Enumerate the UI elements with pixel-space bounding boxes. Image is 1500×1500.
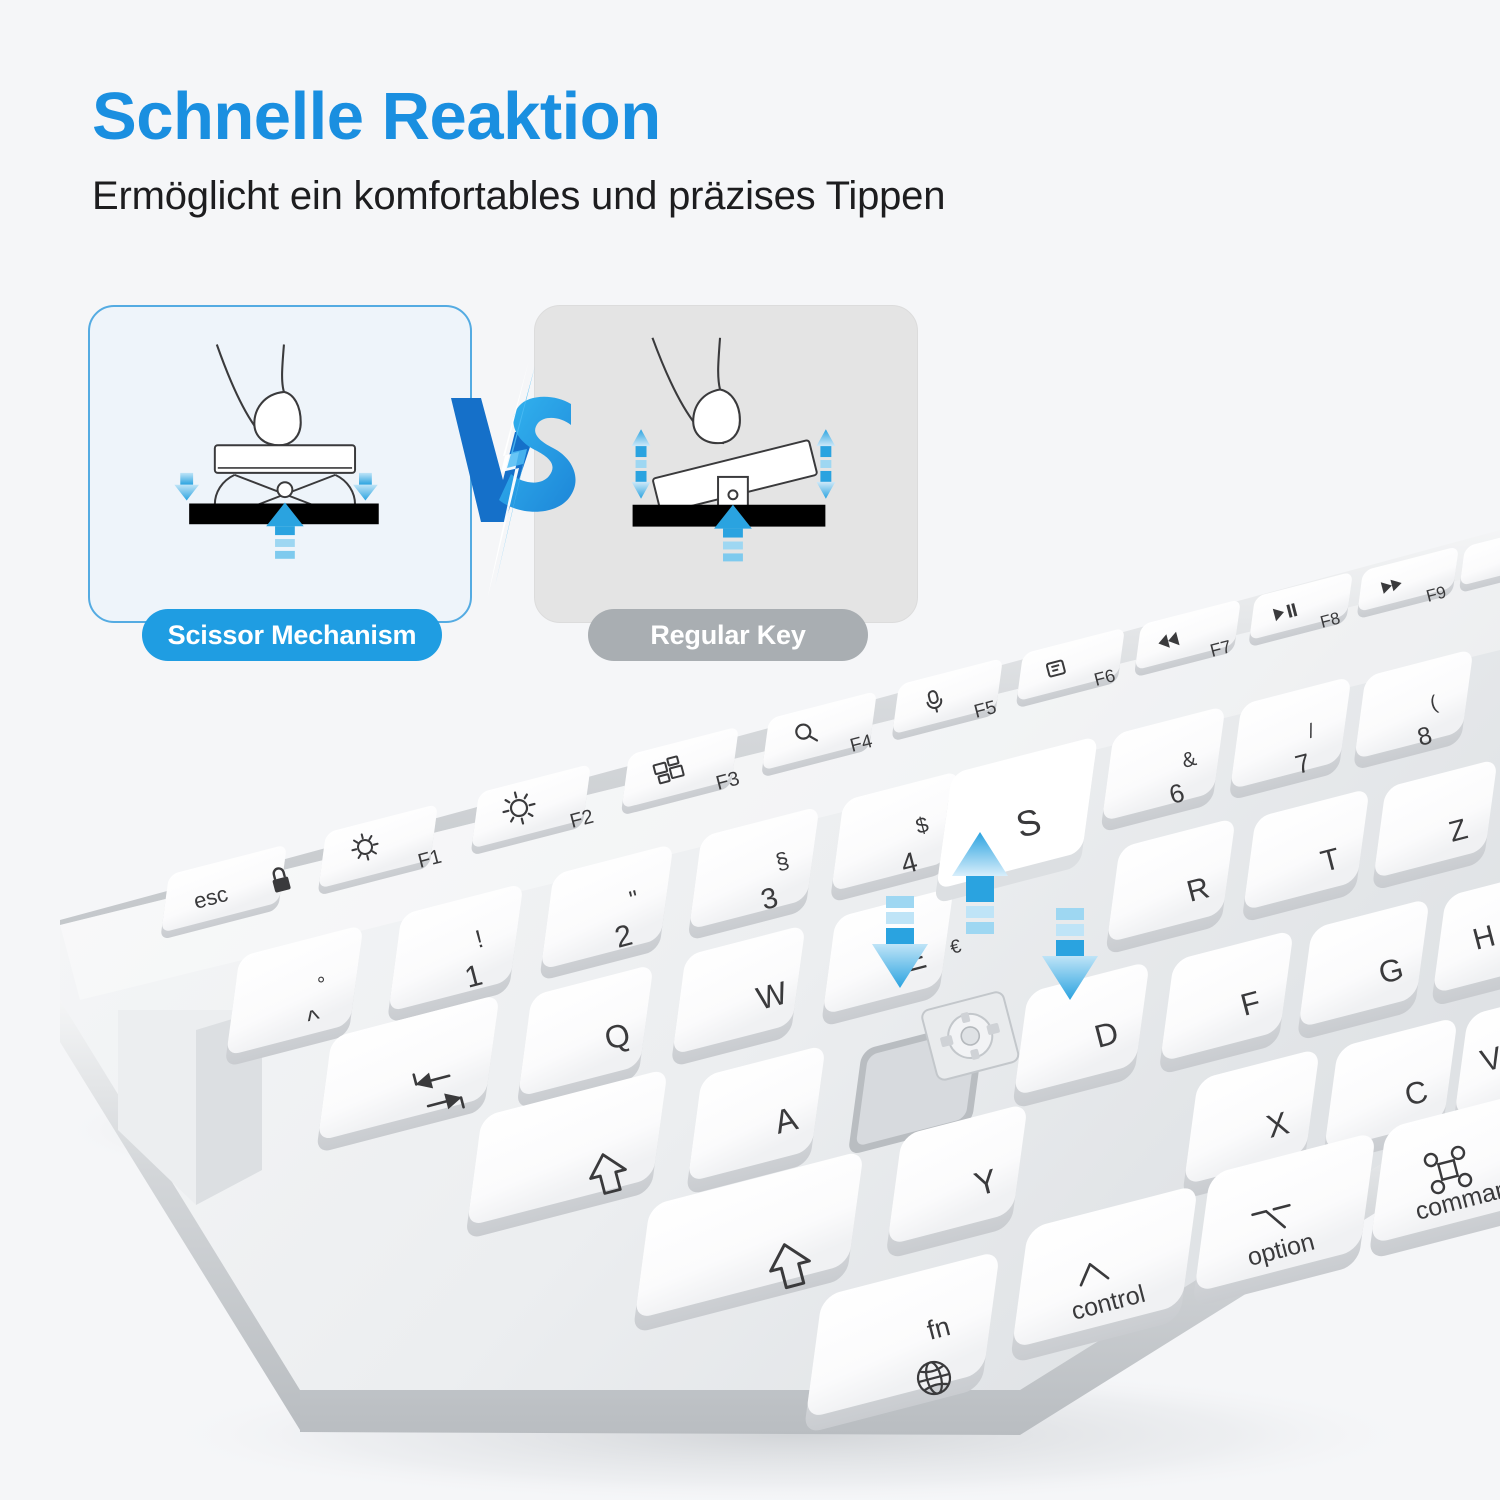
headline-block: Schnelle Reaktion Ermöglicht ein komfort… xyxy=(92,82,945,219)
arrow-double-right xyxy=(816,429,835,499)
page-title: Schnelle Reaktion xyxy=(92,82,945,152)
regular-key-badge: Regular Key xyxy=(588,609,868,661)
arrow-double-left xyxy=(632,429,651,499)
arrow-down-left xyxy=(174,473,199,501)
keyboard-product-photo: esc F1 xyxy=(0,530,1500,1500)
page-subtitle: Ermöglicht ein komfortables und präzises… xyxy=(92,174,945,219)
versus-badge xyxy=(443,360,593,600)
arrow-down-right xyxy=(353,473,378,501)
scissor-mechanism-badge: Scissor Mechanism xyxy=(142,609,442,661)
